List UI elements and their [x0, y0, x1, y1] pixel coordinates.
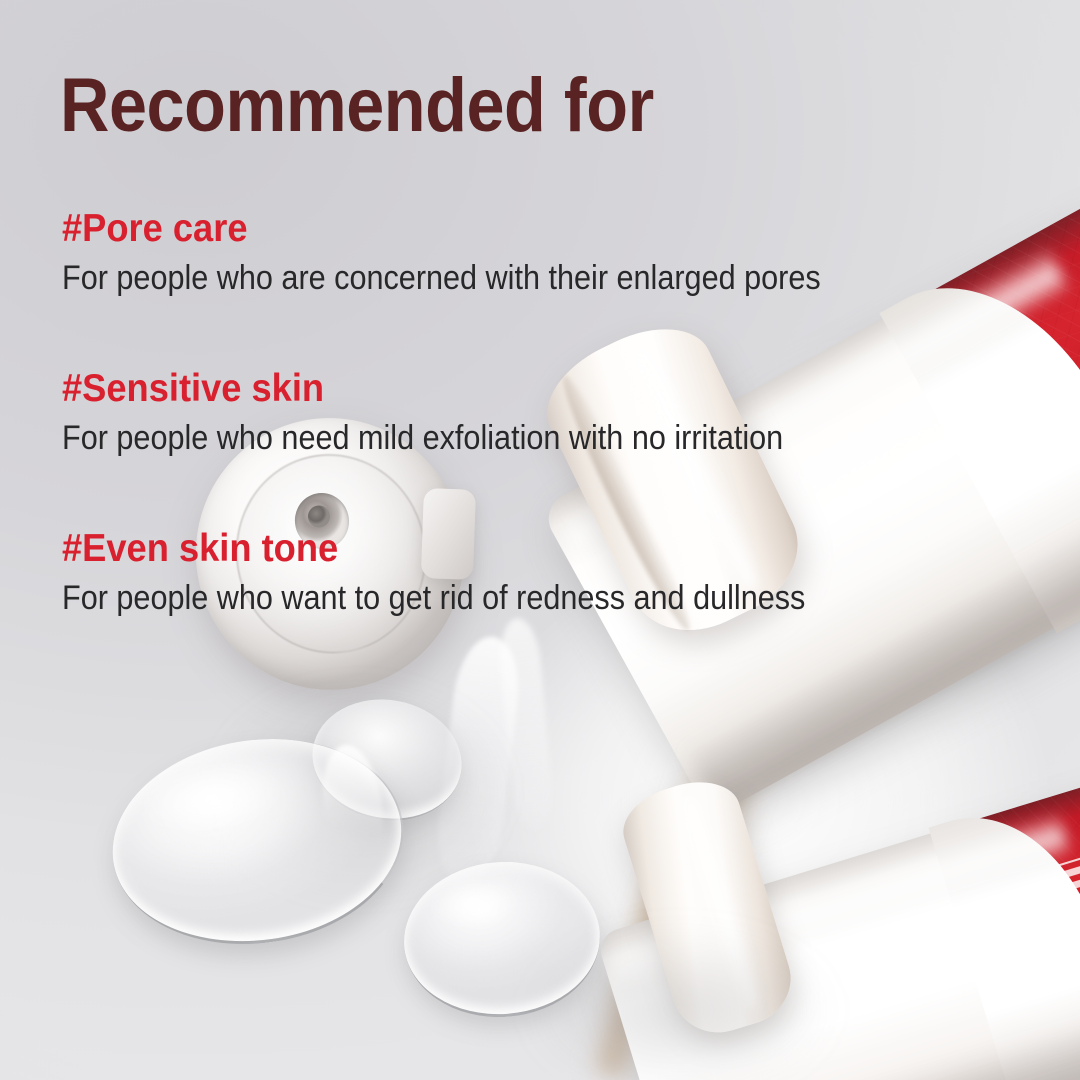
- benefit-tag: #Even skin tone: [62, 528, 830, 570]
- text-overlay: Recommended for #Pore care For people wh…: [0, 0, 1080, 1080]
- benefit-block-pore-care: #Pore care For people who are concerned …: [62, 208, 905, 297]
- page-title: Recommended for: [60, 68, 654, 144]
- benefit-description: For people who want to get rid of rednes…: [62, 579, 805, 617]
- benefit-tag: #Sensitive skin: [62, 368, 807, 410]
- benefit-tag: #Pore care: [62, 208, 846, 250]
- benefit-description: For people who are concerned with their …: [62, 259, 821, 297]
- benefit-block-sensitive-skin: #Sensitive skin For people who need mild…: [62, 368, 863, 457]
- benefit-block-even-skin-tone: #Even skin tone For people who want to g…: [62, 528, 888, 617]
- marketing-banner: Recommended for #Pore care For people wh…: [0, 0, 1080, 1080]
- benefit-description: For people who need mild exfoliation wit…: [62, 419, 783, 457]
